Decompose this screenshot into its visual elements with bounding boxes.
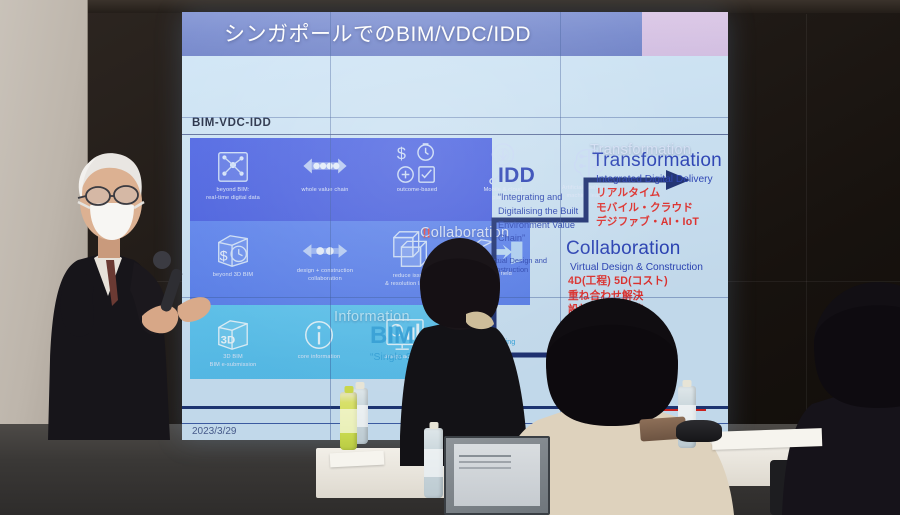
svg-text:$: $: [397, 145, 406, 163]
icon-caption: design + construction collaboration: [286, 267, 364, 283]
collab-arrows-icon: [286, 235, 364, 267]
audience-person-right-edge: [790, 286, 900, 515]
idd-title: IDD: [498, 164, 590, 188]
documents-right: [712, 428, 823, 450]
slide-subhead: BIM-VDC-IDD: [192, 117, 271, 129]
icon-caption: beyond 3D BIM: [194, 271, 272, 279]
icon-cell-outcome-based: $ outcome-based: [378, 142, 456, 194]
transformation-heading: Transformation: [592, 150, 728, 172]
transformation-bullet-2: モバイル・クラウド: [596, 201, 728, 216]
presentation-room-photo: シンガポールでのBIM/VDC/IDD BIM-VDC-IDD Transfor…: [0, 0, 900, 515]
icon-cell-info: core information: [280, 317, 358, 361]
laptop-screen-content: [454, 444, 540, 506]
slide-title-accent-block: [642, 12, 728, 56]
transformation-subtitle: Integrated Digital Delivery: [596, 174, 728, 185]
value-chain-arrows-icon: [286, 146, 364, 186]
collaboration-bullet-1: 4D(工程) 5D(コスト): [568, 274, 728, 289]
icon-cell-cost-time-cube: $ beyond 3D BIM: [194, 231, 272, 279]
audience-laptop: [444, 436, 550, 515]
right-panel-transformation: Transformation Integrated Digital Delive…: [592, 150, 728, 230]
info-circle-icon: [280, 317, 358, 353]
svg-text:$: $: [220, 249, 228, 265]
collaboration-subtitle: Virtual Design & Construction: [570, 262, 728, 273]
icon-cell-network-cube: beyond BIM: real-time digital data: [194, 146, 272, 202]
cube-3d-icon: 3D: [194, 317, 272, 353]
icon-cell-value-chain: whole value chain: [286, 146, 364, 194]
icon-caption: whole value chain: [286, 186, 364, 194]
slide-top-rule: [182, 134, 728, 135]
transformation-bullet-1: リアルタイム: [596, 186, 728, 201]
slide-date: 2023/3/29: [192, 426, 237, 437]
collaboration-heading: Collaboration: [566, 238, 728, 260]
outcome-based-icon: $: [378, 142, 456, 186]
icon-caption: outcome-based: [378, 186, 456, 194]
water-bottle-2: [424, 428, 443, 498]
laptop-screen: [444, 436, 550, 515]
videowall-seam-3: [182, 117, 728, 118]
svg-text:3D: 3D: [221, 335, 236, 347]
water-bottle-tea-1: [340, 392, 357, 450]
icon-caption: 3D BIM BIM e-submission: [194, 353, 272, 369]
idd-block: IDD “Integrating and Digitalising the Bu…: [498, 164, 590, 246]
presenter-person: [38, 110, 198, 440]
documents-left: [330, 451, 385, 468]
slide-title: シンガポールでのBIM/VDC/IDD: [224, 18, 531, 48]
transformation-bullet-3: デジファブ・AI・IoT: [596, 215, 728, 230]
personal-item-dark: [676, 420, 722, 442]
cost-time-cube-icon: $: [194, 231, 272, 271]
icon-caption: beyond BIM: real-time digital data: [194, 186, 272, 202]
icon-cell-3d-cube: 3D 3D BIM BIM e-submission: [194, 317, 272, 369]
icon-caption: core information: [280, 353, 358, 361]
videowall-seam-1: [330, 12, 331, 440]
network-cube-icon: [194, 146, 272, 186]
icon-cell-collab-arrows: design + construction collaboration: [286, 235, 364, 283]
